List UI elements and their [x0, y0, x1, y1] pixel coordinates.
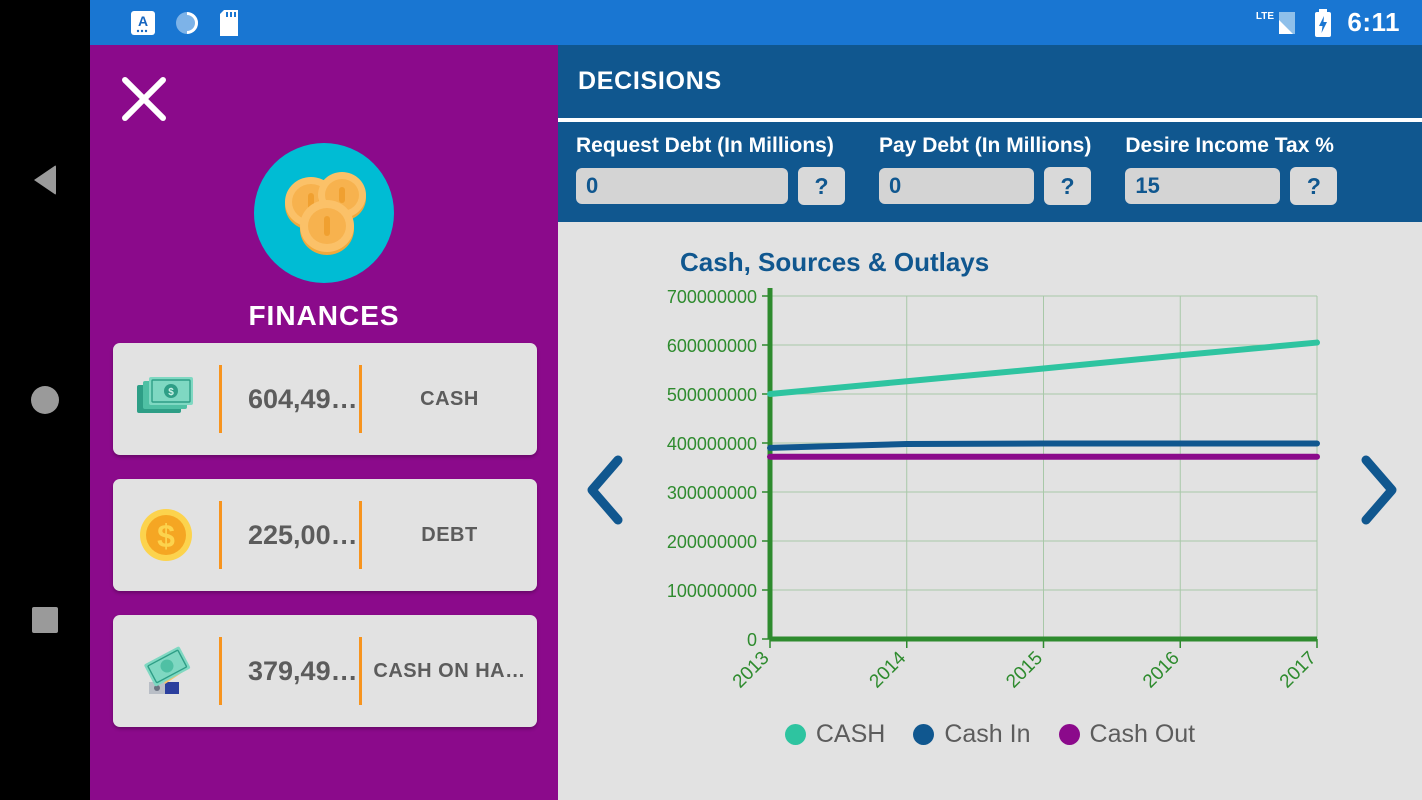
lte-label: LTE [1256, 11, 1274, 22]
finance-cards-list: $ 604,49… CASH $ 225,00… [113, 343, 537, 751]
chevron-left-icon [580, 450, 632, 530]
chevron-right-icon [1352, 450, 1404, 530]
panel-icon-circle [254, 143, 394, 283]
request-debt-input[interactable] [576, 168, 788, 204]
close-button[interactable] [118, 73, 170, 125]
field-group-income-tax: Desire Income Tax % ? [1125, 134, 1337, 205]
a-translate-icon: A [130, 10, 156, 36]
income-tax-label: Desire Income Tax % [1125, 134, 1337, 158]
sd-card-icon [218, 9, 242, 37]
back-triangle-icon [34, 165, 56, 195]
back-button[interactable] [0, 150, 90, 210]
legend-item: Cash In [913, 720, 1030, 749]
legend-label: Cash In [944, 720, 1030, 749]
svg-text:$: $ [157, 518, 175, 554]
card-value: 379,49… [222, 656, 359, 687]
chart-container: Cash, Sources & Outlays 0100000000200000… [558, 222, 1422, 759]
y-axis-tick-label: 500000000 [667, 385, 757, 405]
page-title: FINANCES [90, 300, 558, 332]
x-axis-tick-label: 2017 [1276, 648, 1321, 693]
y-axis-tick-label: 0 [747, 630, 757, 650]
request-debt-label: Request Debt (In Millions) [576, 134, 845, 158]
legend-label: CASH [816, 720, 885, 749]
hand-holding-money-icon [113, 642, 219, 700]
legend-item: CASH [785, 720, 885, 749]
pay-debt-label: Pay Debt (In Millions) [879, 134, 1091, 158]
legend-color-dot [1059, 724, 1080, 745]
card-label: DEBT [362, 524, 537, 547]
previous-chart-button[interactable] [580, 450, 632, 535]
coins-icon [254, 143, 394, 283]
x-axis-tick-label: 2013 [729, 648, 774, 693]
card-label: CASH ON HA… [362, 660, 537, 683]
sync-progress-icon [174, 10, 200, 36]
banknotes-icon: $ [113, 373, 219, 425]
field-group-request-debt: Request Debt (In Millions) ? [576, 134, 845, 205]
card-value: 604,49… [222, 384, 359, 415]
y-axis-tick-label: 600000000 [667, 336, 757, 356]
list-item[interactable]: $ 604,49… CASH [113, 343, 537, 455]
y-axis-tick-label: 200000000 [667, 532, 757, 552]
y-axis-tick-label: 400000000 [667, 434, 757, 454]
home-button[interactable] [0, 370, 90, 430]
legend-color-dot [913, 724, 934, 745]
status-bar-notification-icons: A [90, 9, 242, 37]
lte-signal-icon: LTE [1253, 8, 1299, 38]
y-axis-tick-label: 300000000 [667, 483, 757, 503]
legend-label: Cash Out [1090, 720, 1196, 749]
y-axis-tick-label: 700000000 [667, 287, 757, 307]
next-chart-button[interactable] [1352, 450, 1404, 535]
y-axis-tick-label: 100000000 [667, 581, 757, 601]
card-value: 225,00… [222, 520, 359, 551]
recents-square-icon [32, 607, 58, 633]
decisions-title: DECISIONS [558, 67, 722, 96]
finances-panel: FINANCES $ 604,49… CASH [90, 45, 558, 800]
card-label: CASH [362, 388, 537, 411]
income-tax-input[interactable] [1125, 168, 1280, 204]
legend-color-dot [785, 724, 806, 745]
gold-coin-icon: $ [113, 506, 219, 564]
app-root: A LTE [0, 0, 1422, 800]
status-bar: A LTE [90, 0, 1422, 45]
x-axis-tick-label: 2016 [1139, 648, 1184, 693]
home-circle-icon [31, 386, 59, 414]
svg-text:A: A [138, 13, 148, 29]
battery-charging-icon [1313, 8, 1333, 38]
recents-button[interactable] [0, 590, 90, 650]
cash-sources-outlays-chart: 0100000000200000000300000000400000000500… [558, 222, 1422, 759]
clock: 6:11 [1347, 7, 1400, 38]
request-debt-help-button[interactable]: ? [798, 167, 845, 205]
income-tax-help-button[interactable]: ? [1290, 167, 1337, 205]
decisions-panel: DECISIONS Request Debt (In Millions) ? P… [558, 45, 1422, 800]
x-axis-tick-label: 2015 [1002, 648, 1047, 693]
pay-debt-help-button[interactable]: ? [1044, 167, 1091, 205]
decisions-header: DECISIONS [558, 45, 1422, 118]
panel-icon-wrapper [90, 143, 558, 283]
android-navigation-bar [0, 0, 90, 800]
field-group-pay-debt: Pay Debt (In Millions) ? [879, 134, 1091, 205]
svg-text:$: $ [168, 387, 174, 398]
decisions-fields: Request Debt (In Millions) ? Pay Debt (I… [558, 122, 1422, 222]
chart-legend: CASHCash InCash Out [558, 720, 1422, 749]
list-item[interactable]: 379,49… CASH ON HA… [113, 615, 537, 727]
legend-item: Cash Out [1059, 720, 1196, 749]
x-axis-tick-label: 2014 [866, 647, 911, 692]
close-icon [118, 73, 170, 125]
list-item[interactable]: $ 225,00… DEBT [113, 479, 537, 591]
pay-debt-input[interactable] [879, 168, 1034, 204]
status-bar-system-icons: LTE 6:11 [1253, 7, 1422, 38]
